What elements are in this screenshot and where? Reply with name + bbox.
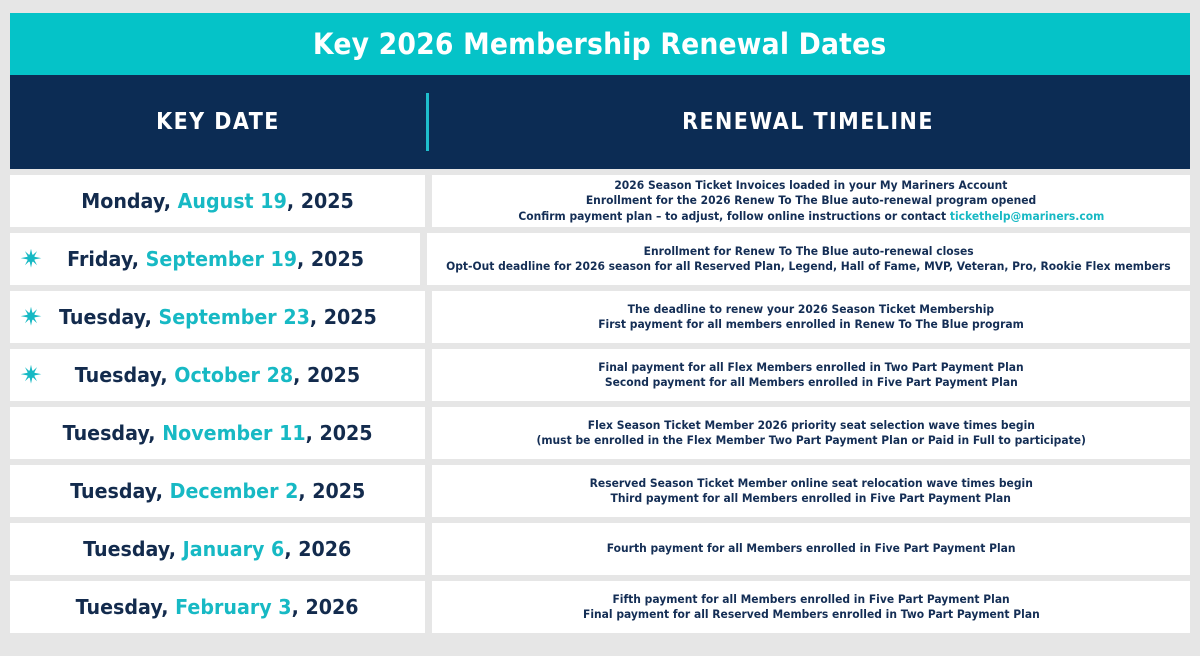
month-day-text: February 3 [176,595,292,619]
timeline-line: Final payment for all Reserved Members e… [583,607,1040,623]
header-divider [426,93,429,151]
timeline-line: The deadline to renew your 2026 Season T… [628,302,994,318]
year-text: , 2025 [309,305,376,329]
key-date-cell: Tuesday, September 23, 2025 [10,291,425,343]
timeline-line: Reserved Season Ticket Member online sea… [589,476,1032,492]
title-banner: Key 2026 Membership Renewal Dates [10,13,1190,75]
key-date-text: Friday, September 19, 2025 [67,247,364,271]
renewal-dates-table: Key 2026 Membership Renewal Dates KEY DA… [10,13,1190,639]
renewal-timeline-cell: Fourth payment for all Members enrolled … [432,523,1190,575]
key-date-text: Tuesday, January 6, 2026 [83,537,351,561]
key-date-cell: Tuesday, February 3, 2026 [10,581,425,633]
renewal-timeline-cell: Final payment for all Flex Members enrol… [432,349,1190,401]
year-text: , 2025 [297,247,364,271]
timeline-line: Final payment for all Flex Members enrol… [598,360,1023,376]
key-date-text: Tuesday, November 11, 2025 [63,421,373,445]
sparkle-star-icon [20,306,42,328]
weekday-text: Tuesday, [59,305,152,329]
renewal-timeline-cell: 2026 Season Ticket Invoices loaded in yo… [432,175,1190,227]
key-date-text: Tuesday, September 23, 2025 [59,305,377,329]
year-text: , 2025 [298,479,365,503]
table-body: Monday, August 19, 20252026 Season Ticke… [10,175,1190,633]
timeline-line: Opt-Out deadline for 2026 season for all… [446,259,1171,275]
key-date-cell: Tuesday, January 6, 2026 [10,523,425,575]
key-date-text: Tuesday, December 2, 2025 [70,479,365,503]
timeline-line: Confirm payment plan – to adjust, follow… [518,209,1104,225]
renewal-timeline-cell: Reserved Season Ticket Member online sea… [432,465,1190,517]
key-date-cell: Tuesday, October 28, 2025 [10,349,425,401]
key-date-text: Monday, August 19, 2025 [81,189,354,213]
column-header-row: KEY DATE RENEWAL TIMELINE [10,75,1190,169]
key-date-cell: Monday, August 19, 2025 [10,175,425,227]
column-header-renewal-timeline: RENEWAL TIMELINE [464,109,1152,135]
month-day-text: December 2 [169,479,298,503]
sparkle-star-icon [20,364,42,386]
month-day-text: August 19 [178,189,287,213]
table-row: Friday, September 19, 2025Enrollment for… [10,233,1190,285]
table-row: Monday, August 19, 20252026 Season Ticke… [10,175,1190,227]
timeline-line: Fifth payment for all Members enrolled i… [612,592,1009,608]
page-title: Key 2026 Membership Renewal Dates [313,27,887,61]
timeline-line: Enrollment for Renew To The Blue auto-re… [644,244,974,260]
renewal-timeline-cell: The deadline to renew your 2026 Season T… [432,291,1190,343]
sparkle-star-icon [20,248,42,270]
timeline-line: 2026 Season Ticket Invoices loaded in yo… [614,178,1007,194]
timeline-line: Second payment for all Members enrolled … [605,375,1018,391]
key-date-text: Tuesday, February 3, 2026 [76,595,359,619]
table-row: Tuesday, October 28, 2025Final payment f… [10,349,1190,401]
table-row: Tuesday, December 2, 2025Reserved Season… [10,465,1190,517]
month-day-text: January 6 [183,537,285,561]
key-date-cell: Tuesday, December 2, 2025 [10,465,425,517]
month-day-text: September 23 [158,305,309,329]
table-row: Tuesday, November 11, 2025Flex Season Ti… [10,407,1190,459]
table-row: Tuesday, September 23, 2025The deadline … [10,291,1190,343]
weekday-text: Tuesday, [63,421,156,445]
weekday-text: Tuesday, [75,363,168,387]
key-date-text: Tuesday, October 28, 2025 [75,363,360,387]
year-text: , 2026 [292,595,359,619]
month-day-text: October 28 [174,363,293,387]
year-text: , 2025 [306,421,373,445]
weekday-text: Monday, [81,189,171,213]
timeline-line: Third payment for all Members enrolled i… [611,491,1011,507]
renewal-timeline-cell: Enrollment for Renew To The Blue auto-re… [427,233,1190,285]
month-day-text: September 19 [145,247,296,271]
table-row: Tuesday, January 6, 2026Fourth payment f… [10,523,1190,575]
column-header-key-date: KEY DATE [31,109,405,135]
timeline-line: (must be enrolled in the Flex Member Two… [536,433,1085,449]
weekday-text: Friday, [67,247,139,271]
table-row: Tuesday, February 3, 2026Fifth payment f… [10,581,1190,633]
renewal-timeline-cell: Flex Season Ticket Member 2026 priority … [432,407,1190,459]
year-text: , 2025 [287,189,354,213]
key-date-cell: Friday, September 19, 2025 [10,233,420,285]
weekday-text: Tuesday, [76,595,169,619]
key-date-cell: Tuesday, November 11, 2025 [10,407,425,459]
renewal-timeline-cell: Fifth payment for all Members enrolled i… [432,581,1190,633]
weekday-text: Tuesday, [83,537,176,561]
timeline-line: Enrollment for the 2026 Renew To The Blu… [586,193,1036,209]
year-text: , 2026 [285,537,352,561]
timeline-line: Flex Season Ticket Member 2026 priority … [587,418,1034,434]
timeline-line: Fourth payment for all Members enrolled … [607,541,1016,557]
year-text: , 2025 [293,363,360,387]
month-day-text: November 11 [162,421,305,445]
weekday-text: Tuesday, [70,479,163,503]
timeline-line: First payment for all members enrolled i… [598,317,1024,333]
support-email-link[interactable]: tickethelp@mariners.com [949,210,1103,223]
